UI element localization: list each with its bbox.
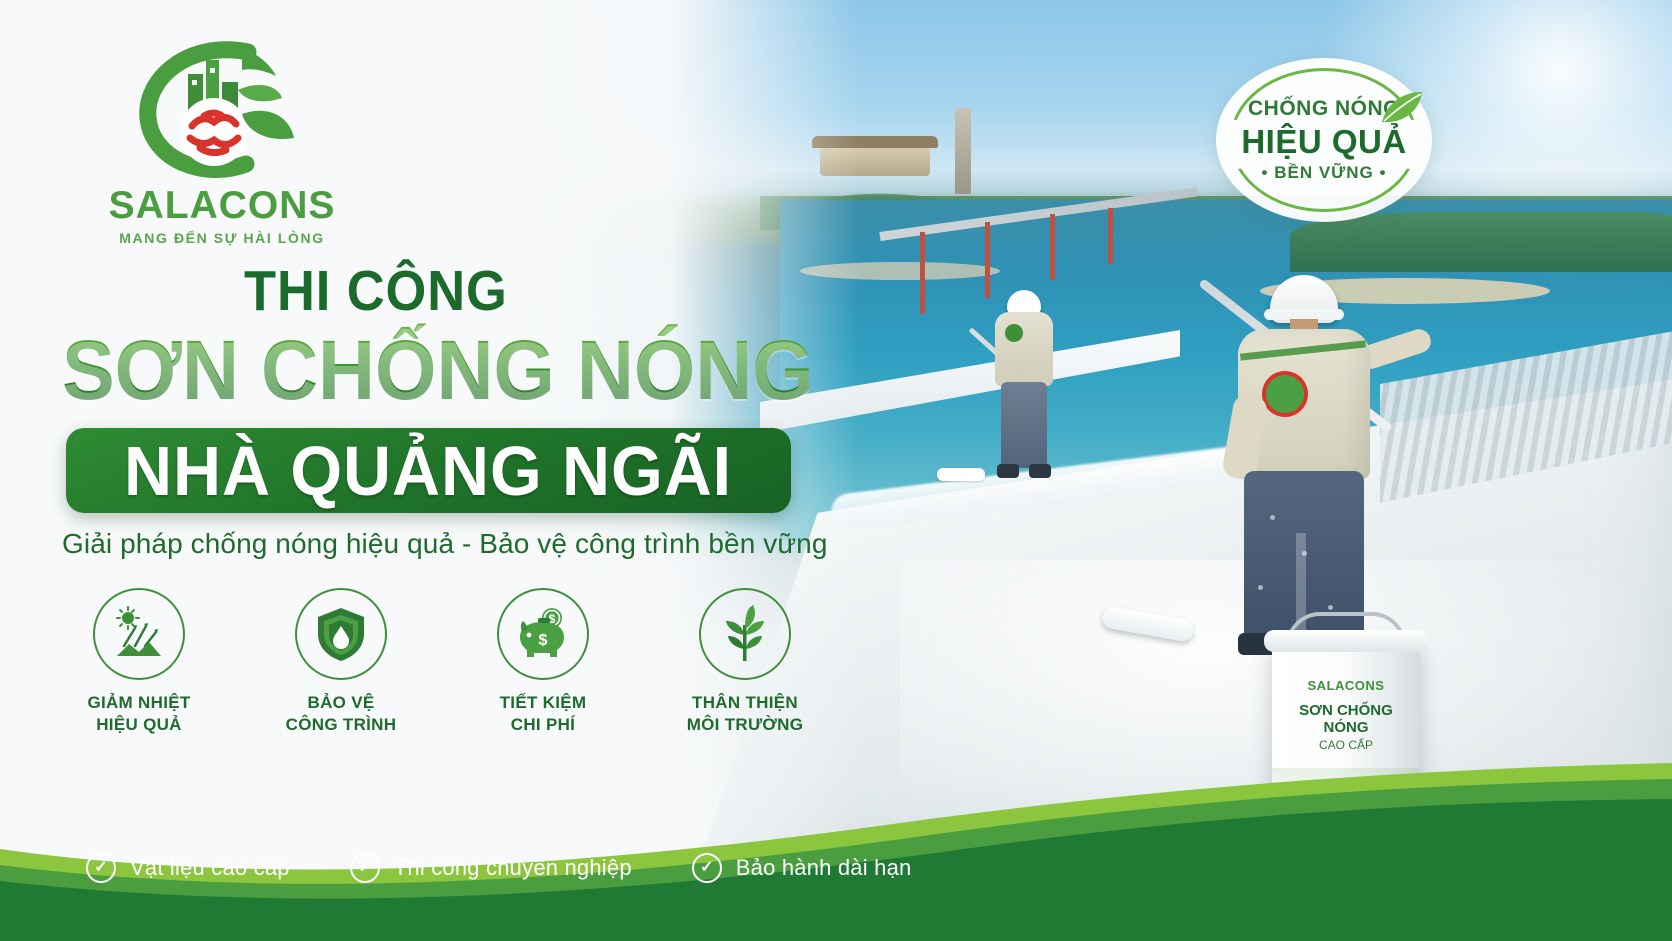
work-boot: [1029, 464, 1051, 478]
feature-item: THÂN THIỆN MÔI TRƯỜNG: [668, 588, 822, 758]
hilltop-tower: [955, 108, 971, 194]
bridge-pylon: [1108, 208, 1113, 264]
feature-list: GIẢM NHIỆT HIỆU QUẢ BẢO VỆ CÔNG TRÌNH: [62, 588, 822, 758]
worker-far: [985, 290, 1075, 500]
headline-main: SƠN CHỐNG NÓNG: [62, 322, 814, 419]
headline-badge-text: NHÀ QUẢNG NGÃI: [124, 431, 732, 511]
heat-reflect-sun-icon: [93, 588, 185, 680]
footer-check-label: Vật liệu cao cấp: [130, 855, 290, 881]
feature-label-line1: BẢO VỆ: [308, 693, 375, 712]
brand-logo[interactable]: SALACONS MANG ĐẾN SỰ HÀI LÒNG: [72, 34, 372, 244]
safety-helmet: [1007, 290, 1041, 314]
feature-item: GIẢM NHIỆT HIỆU QUẢ: [62, 588, 216, 758]
jacket-logo-patch: [1262, 371, 1308, 417]
feature-label-line1: THÂN THIỆN: [692, 693, 798, 712]
safety-helmet: [1270, 275, 1338, 323]
check-circle-icon: ✓: [350, 853, 380, 883]
feature-label-line2: CHI PHÍ: [511, 715, 575, 734]
paint-roller: [937, 468, 985, 481]
footer-check-item: ✓ Vật liệu cao cấp: [86, 853, 290, 883]
bridge-pylon: [1050, 214, 1055, 280]
svg-text:$: $: [539, 632, 548, 649]
jacket-logo-patch: [1005, 324, 1023, 342]
footer-check-label: Thi công chuyên nghiệp: [394, 855, 632, 881]
leaf-plant-icon: [699, 588, 791, 680]
bucket-brand: SALACONS: [1300, 676, 1392, 694]
work-jacket: [995, 312, 1053, 386]
footer-check-item: ✓ Thi công chuyên nghiệp: [350, 853, 632, 883]
footer-check-list: ✓ Vật liệu cao cấp ✓ Thi công chuyên ngh…: [86, 853, 911, 883]
far-island-greenery: [1290, 212, 1672, 272]
headline-subtitle: Giải pháp chống nóng hiệu quả - Bảo vệ c…: [62, 528, 828, 560]
headline-badge: NHÀ QUẢNG NGÃI: [66, 428, 791, 513]
feature-item: BẢO VỆ CÔNG TRÌNH: [264, 588, 418, 758]
quality-seal-badge: CHỐNG NÓNG HIỆU QUẢ • BỀN VỮNG •: [1216, 58, 1432, 222]
bucket-subtitle: CAO CẤP: [1280, 738, 1412, 752]
brand-tagline: MANG ĐẾN SỰ HÀI LÒNG: [72, 230, 372, 246]
bucket-lid: [1264, 630, 1428, 652]
seal-line3: • BỀN VỮNG •: [1262, 163, 1387, 183]
bridge-pylon: [920, 232, 925, 314]
feature-label-line1: TIẾT KIỆM: [500, 693, 587, 712]
bridge-pylon: [985, 222, 990, 298]
seal-line2: HIỆU QUẢ: [1241, 123, 1406, 161]
leaf-icon: [1378, 88, 1424, 128]
piggy-bank-dollar-icon: $ $: [497, 588, 589, 680]
feature-label-line2: CÔNG TRÌNH: [286, 715, 397, 734]
work-boot: [997, 464, 1019, 478]
footer-check-item: ✓ Bảo hành dài hạn: [692, 853, 912, 883]
headline-eyebrow: THI CÔNG: [244, 258, 508, 324]
shield-droplet-icon: [295, 588, 387, 680]
bucket-title: SƠN CHỐNG NÓNG: [1280, 702, 1412, 737]
footer-wave: [0, 761, 1672, 941]
check-circle-icon: ✓: [692, 853, 722, 883]
feature-item: $ $ TIẾT KIỆM CHI PHÍ: [466, 588, 620, 758]
salacons-leaf-building-logo-icon: [130, 34, 310, 184]
footer-check-label: Bảo hành dài hạn: [736, 855, 912, 881]
feature-label-line2: HIỆU QUẢ: [96, 715, 182, 734]
work-pants: [1001, 382, 1047, 468]
brand-name: SALACONS: [72, 186, 372, 225]
promo-banner: SALACONS SƠN CHỐNG NÓNG CAO CẤP: [0, 0, 1672, 941]
feature-label-line2: MÔI TRƯỜNG: [687, 715, 804, 734]
feature-label-line1: GIẢM NHIỆT: [87, 693, 190, 712]
check-circle-icon: ✓: [86, 853, 116, 883]
